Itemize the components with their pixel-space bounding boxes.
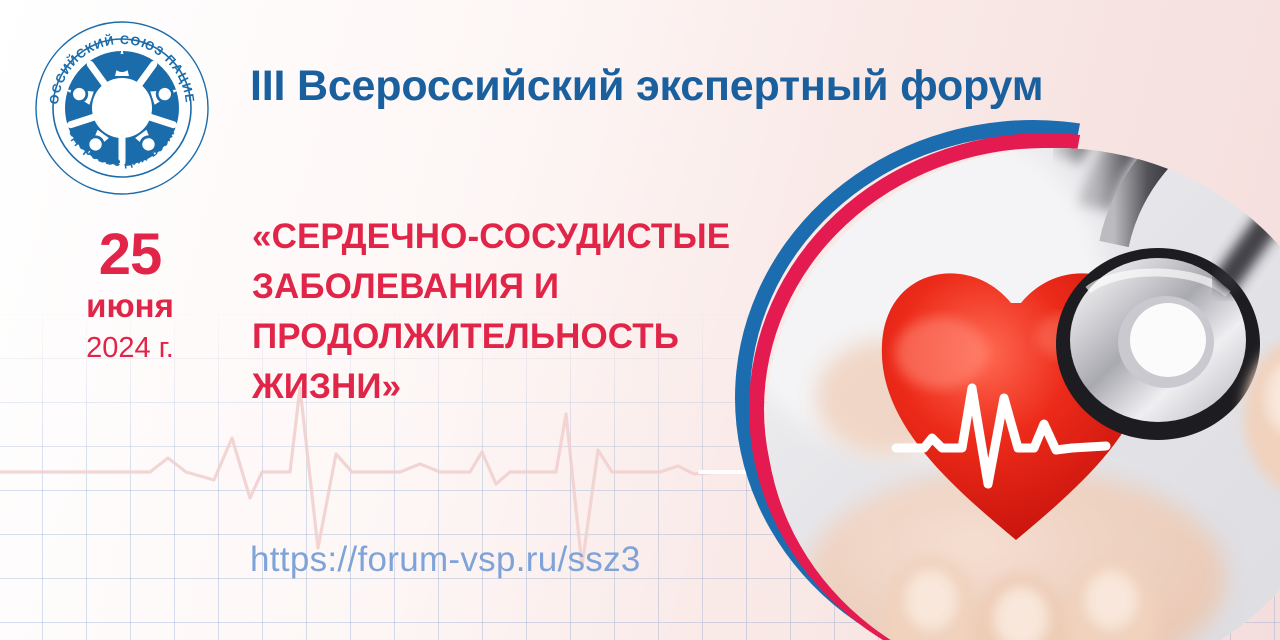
event-banner: ВСЕРОССИЙСКИЙ СОЮЗ ПАЦИЕНТОВ Здоровье дл… [0, 0, 1280, 640]
hero-photo-frame [735, 120, 1280, 640]
event-url[interactable]: https://forum-vsp.ru/ssz3 [250, 540, 641, 580]
date-day: 25 [40, 226, 220, 284]
event-date: 25 июня 2024 г. [40, 226, 220, 368]
vsp-logo-icon: ВСЕРОССИЙСКИЙ СОЮЗ ПАЦИЕНТОВ Здоровье дл… [32, 18, 212, 198]
forum-title: III Всероссийский экспертный форум [250, 62, 1043, 111]
date-year: 2024 г. [40, 328, 220, 368]
event-headline: «СЕРДЕЧНО-СОСУДИСТЫЕ ЗАБОЛЕВАНИЯ И ПРОДО… [252, 212, 792, 412]
vsp-logo: ВСЕРОССИЙСКИЙ СОЮЗ ПАЦИЕНТОВ Здоровье дл… [32, 18, 212, 198]
date-month: июня [40, 284, 220, 328]
